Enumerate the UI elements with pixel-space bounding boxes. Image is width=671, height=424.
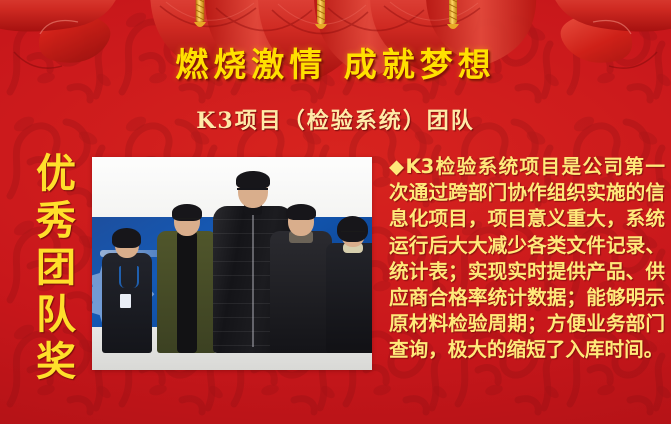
award-char-1: 优 [33, 150, 79, 197]
person-1-hair [112, 228, 141, 248]
person-2-inner-shirt [177, 231, 197, 353]
person-1-badge [120, 294, 131, 308]
award-char-4: 队 [33, 291, 79, 338]
person-4-hair [286, 204, 316, 220]
main-title: 燃烧激情 成就梦想 [0, 38, 671, 86]
person-2-glasses-icon [174, 218, 200, 223]
person-3-glasses-icon [237, 188, 268, 194]
person-1 [98, 229, 156, 353]
award-char-3: 团 [33, 244, 79, 291]
team-photo: ★ [92, 157, 372, 370]
sub-title: K3项目（检验系统）团队 [0, 103, 671, 135]
award-char-5: 奖 [33, 338, 79, 385]
person-3-zipper [252, 214, 254, 347]
person-3-hair [236, 171, 270, 189]
person-5-hair [337, 216, 368, 242]
person-5-glasses-icon [341, 231, 365, 236]
person-5 [322, 217, 372, 353]
award-label-vertical: 优 秀 团 队 奖 [33, 150, 79, 385]
person-1-lanyard [119, 266, 139, 288]
team-photo-frame: ★ [92, 157, 372, 370]
award-poster: 燃烧激情 成就梦想 K3项目（检验系统）团队 优 秀 团 队 奖 [0, 0, 671, 424]
project-description-text: ◆K3检验系统项目是公司第一次通过跨部门协作组织实施的信息化项目，项目意义重大，… [389, 154, 665, 364]
award-char-2: 秀 [33, 197, 79, 244]
person-5-body [326, 243, 372, 353]
